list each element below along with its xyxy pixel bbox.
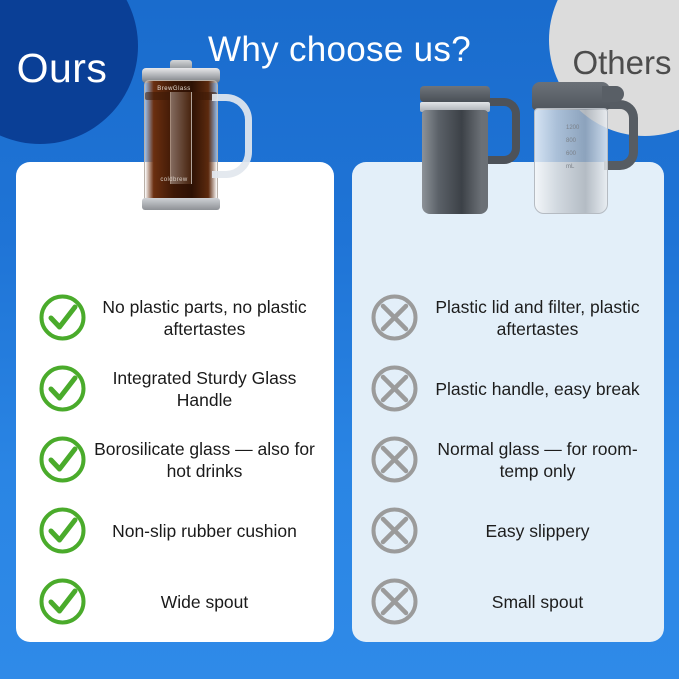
list-item: Integrated Sturdy Glass Handle	[16, 353, 334, 424]
list-item: Non-slip rubber cushion	[16, 495, 334, 566]
plastic-lid	[532, 82, 610, 110]
plastic-handle	[604, 100, 638, 170]
list-item: Plastic handle, easy break	[352, 353, 664, 424]
list-item: Normal glass — for room-temp only	[352, 424, 664, 495]
check-circle-icon	[38, 364, 87, 413]
list-item: Wide spout	[16, 566, 334, 637]
list-item-label: Plastic lid and filter, plastic aftertas…	[419, 296, 664, 340]
list-item: Borosilicate glass — also for hot drinks	[16, 424, 334, 495]
plastic-lid	[420, 86, 490, 102]
cross-circle-icon	[370, 293, 419, 342]
cross-circle-icon	[370, 577, 419, 626]
check-circle-icon	[38, 506, 87, 555]
list-item: No plastic parts, no plastic aftertastes	[16, 282, 334, 353]
list-item-label: Wide spout	[87, 591, 334, 613]
carafe-label-text: coldbrew	[150, 174, 198, 186]
carafe-brand-text: BrewGlass	[148, 86, 200, 92]
list-item: Small spout	[352, 566, 664, 637]
carafe-body	[422, 110, 488, 214]
others-panel: 1200800600mL Plastic lid and filter, pla…	[352, 162, 664, 642]
list-item-label: No plastic parts, no plastic aftertastes	[87, 296, 334, 340]
list-item: Plastic lid and filter, plastic aftertas…	[352, 282, 664, 353]
others-product-area: 1200800600mL	[352, 102, 664, 277]
check-circle-icon	[38, 293, 87, 342]
list-item-label: Plastic handle, easy break	[419, 378, 664, 400]
cross-circle-icon	[370, 364, 419, 413]
carafe-base	[142, 198, 220, 210]
list-item-label: Non-slip rubber cushion	[87, 520, 334, 542]
list-item-label: Integrated Sturdy Glass Handle	[87, 367, 334, 411]
volume-marks: 1200800600mL	[566, 122, 600, 174]
comparison-infographic: Ours Others Why choose us? BrewGlass col…	[0, 0, 679, 679]
ours-product-area: BrewGlass coldbrew	[16, 102, 334, 277]
list-item-label: Normal glass — for room-temp only	[419, 438, 664, 482]
list-item: Easy slippery	[352, 495, 664, 566]
carafe-glass-handle	[212, 94, 252, 178]
check-circle-icon	[38, 577, 87, 626]
list-item-label: Easy slippery	[419, 520, 664, 542]
check-circle-icon	[38, 435, 87, 484]
glass-cold-brew-carafe-image: BrewGlass coldbrew	[126, 52, 256, 217]
carafe-filter	[170, 92, 192, 184]
plastic-lid-pitcher-image: 1200800600mL	[524, 60, 644, 224]
small-spout	[602, 86, 624, 102]
cross-circle-icon	[370, 435, 419, 484]
others-feature-list: Plastic lid and filter, plastic aftertas…	[352, 282, 664, 637]
ours-panel: BrewGlass coldbrew No plastic parts, no …	[16, 162, 334, 642]
cross-circle-icon	[370, 506, 419, 555]
ours-feature-list: No plastic parts, no plastic aftertastes…	[16, 282, 334, 637]
list-item-label: Small spout	[419, 591, 664, 613]
gray-plastic-carafe-image	[414, 64, 524, 224]
list-item-label: Borosilicate glass — also for hot drinks	[87, 438, 334, 482]
